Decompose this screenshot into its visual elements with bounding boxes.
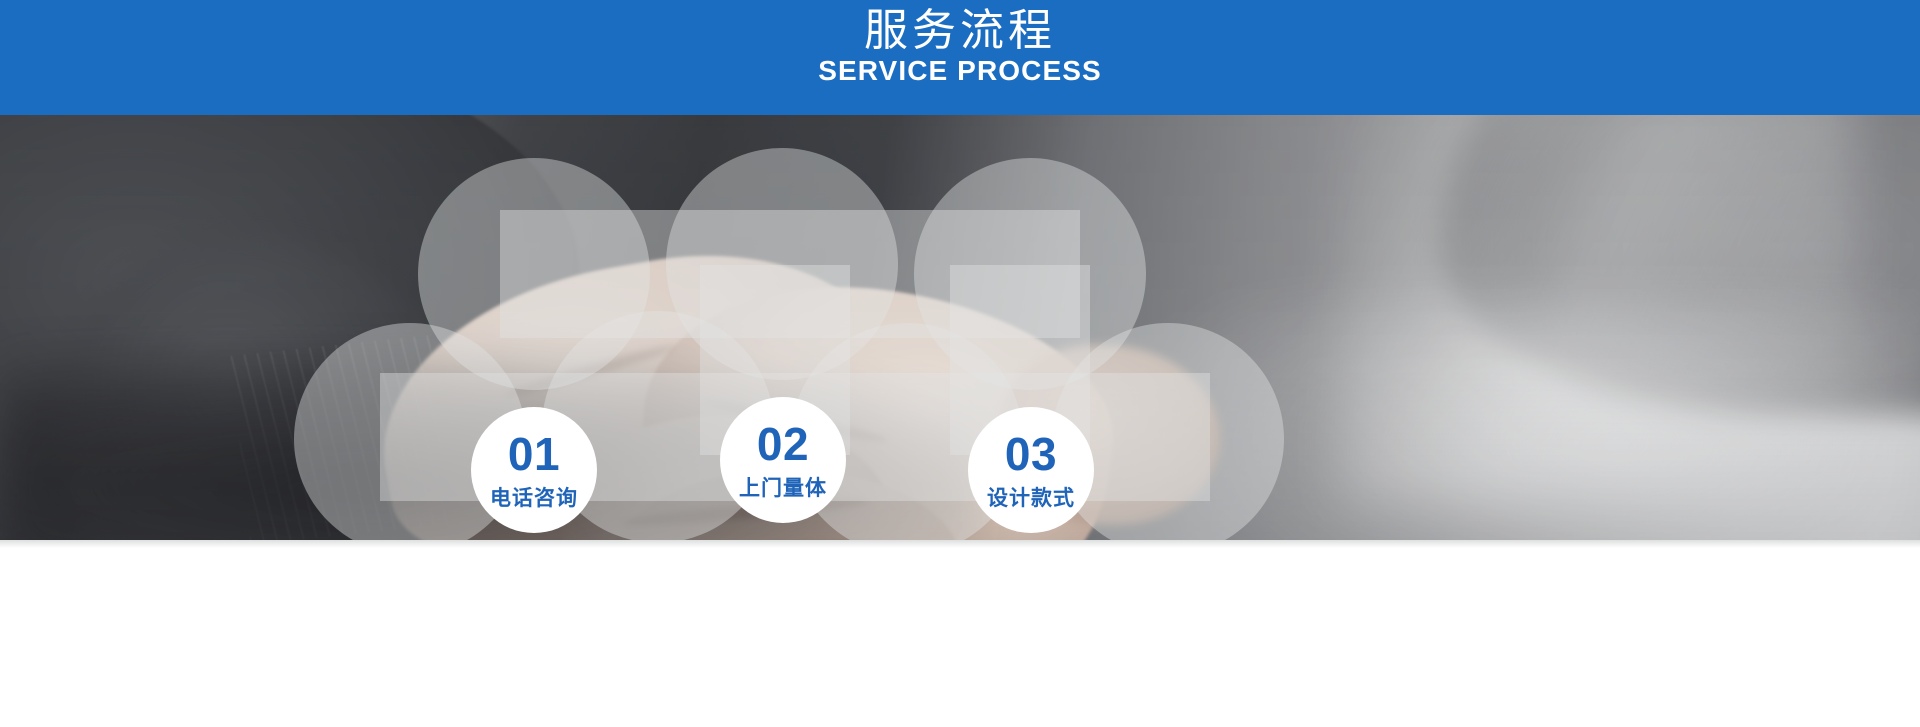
step-number: 03 <box>1005 431 1057 477</box>
step-number: 02 <box>757 421 809 467</box>
step-label: 上门量体 <box>739 478 827 499</box>
page-subtitle: SERVICE PROCESS <box>818 56 1102 87</box>
step-circle-01[interactable]: 01 电话咨询 <box>471 407 597 533</box>
service-process-banner: 服务流程 SERVICE PROCESS <box>0 0 1920 727</box>
step-label: 设计款式 <box>987 488 1075 509</box>
header-inner: 服务流程 SERVICE PROCESS <box>0 0 1920 115</box>
step-circle-group: 01 电话咨询 02 上门量体 03 设计款式 04 签订合同 05 快速出货 … <box>0 230 1920 540</box>
step-label: 电话咨询 <box>490 488 578 509</box>
step-circle-02[interactable]: 02 上门量体 <box>720 397 846 523</box>
header-band: 服务流程 SERVICE PROCESS <box>0 0 1920 115</box>
page-title: 服务流程 <box>864 6 1056 55</box>
bottom-strip-shadow <box>0 540 1920 548</box>
step-circle-03[interactable]: 03 设计款式 <box>968 407 1094 533</box>
step-number: 01 <box>508 431 560 477</box>
hero-image-stage: 01 电话咨询 02 上门量体 03 设计款式 04 签订合同 05 快速出货 … <box>0 115 1920 540</box>
bottom-strip <box>0 540 1920 727</box>
